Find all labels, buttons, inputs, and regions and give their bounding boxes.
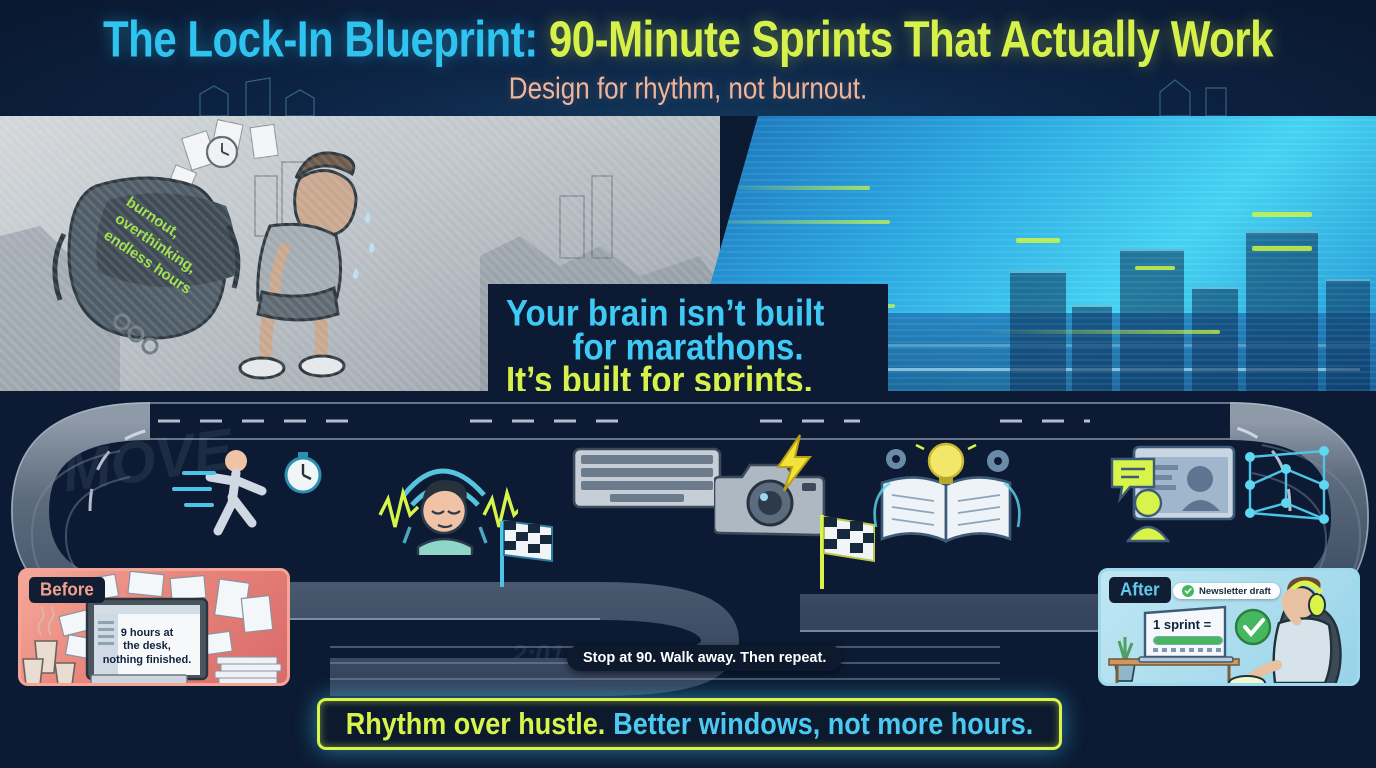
after-card: Newsletter draft 1 sprint = After <box>1098 568 1360 686</box>
check-circle-icon <box>1182 585 1194 597</box>
hero-section: burnout, overthinking, endless hours <box>0 116 1376 391</box>
page-subtitle: Design for rhythm, not burnout. <box>0 70 1376 107</box>
backpack-label-line-2: overthinking, <box>112 210 200 277</box>
title-part-2: 90-Minute Sprints That Actually Work <box>549 10 1273 67</box>
after-tag: After <box>1109 577 1171 603</box>
checkered-flag-left-icon <box>494 513 560 593</box>
stop-at-90-pill: Stop at 90. Walk away. Then repeat. <box>567 645 842 671</box>
after-screen-text: 1 sprint = <box>1153 617 1223 632</box>
banner-part-2: Better windows, not more hours. <box>613 707 1033 742</box>
lightning-icon <box>770 433 820 493</box>
backpack-label-line-3: endless hours <box>101 227 195 298</box>
banner-part-1: Rhythm over hustle. <box>346 707 606 742</box>
page-title: The Lock-In Blueprint: 90-Minute Sprints… <box>0 10 1376 69</box>
after-progress-bar <box>1153 636 1223 645</box>
after-progress-fill <box>1154 637 1222 644</box>
after-screen-content: 1 sprint = <box>1153 617 1223 652</box>
hero-quote-box: Your brain isn’t built for marathons. It… <box>488 284 888 391</box>
before-card: 9 hours at the desk, nothing finished. B… <box>18 568 290 686</box>
after-badge: Newsletter draft <box>1173 583 1280 599</box>
after-screen-lines <box>1153 648 1223 652</box>
svg-text:burnout, overthink: burnout, overthinking, endless hours <box>101 194 217 298</box>
quote-line-3: It’s built for sprints. <box>506 361 870 391</box>
before-screen-note: 9 hours at the desk, nothing finished. <box>95 627 199 667</box>
backpack-label-line-1: burnout, <box>123 194 183 242</box>
infographic-canvas: The Lock-In Blueprint: 90-Minute Sprints… <box>0 0 1376 768</box>
open-book-icon <box>868 439 1028 551</box>
after-badge-label: Newsletter draft <box>1199 586 1271 597</box>
header-banner: The Lock-In Blueprint: 90-Minute Sprints… <box>0 0 1376 116</box>
title-part-1: The Lock-In Blueprint: <box>103 10 538 67</box>
stopwatch-icon <box>278 447 328 497</box>
before-tag: Before <box>29 577 105 603</box>
video-call-icon <box>1108 441 1338 551</box>
bottom-banner: Rhythm over hustle. Better windows, not … <box>317 698 1062 750</box>
